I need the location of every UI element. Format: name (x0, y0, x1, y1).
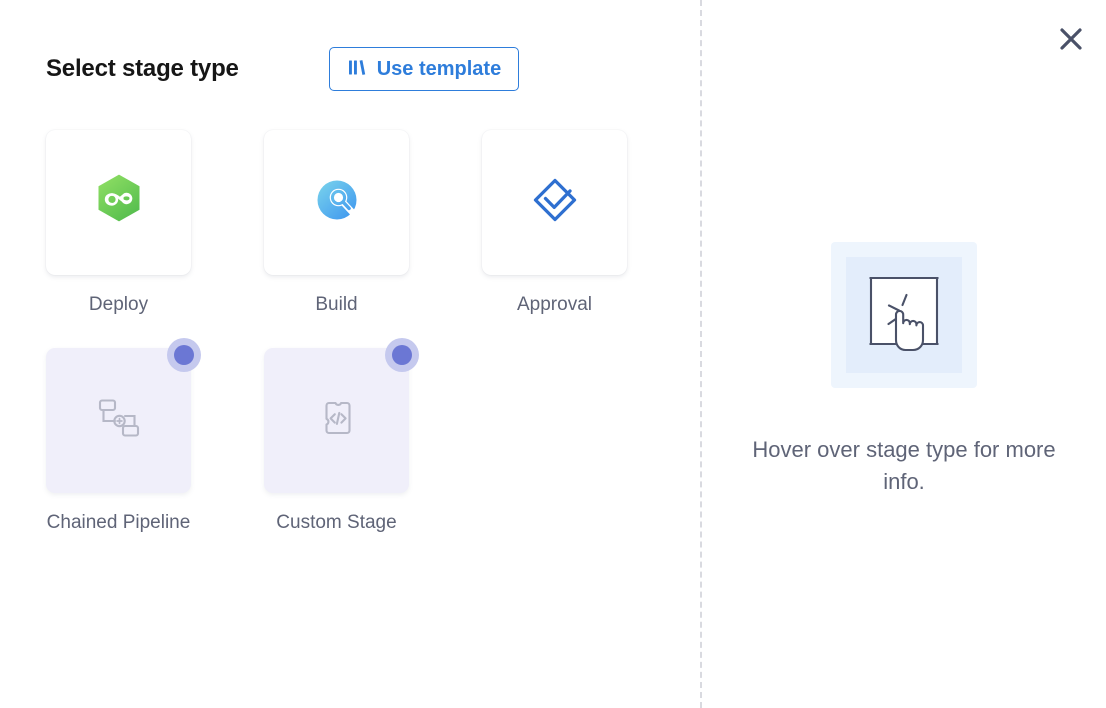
stage-type-card-build[interactable]: Build (264, 130, 409, 320)
build-tile-wrap (264, 130, 409, 275)
stage-type-grid: Deploy (46, 130, 646, 538)
deploy-hexagon-infinity-icon (94, 173, 144, 232)
stage-type-card-chained-pipeline: Chained Pipeline (46, 348, 191, 538)
select-stage-type-dialog: Select stage type Use template (0, 0, 1106, 708)
stage-type-picker: Select stage type Use template (0, 0, 700, 708)
dialog-header: Select stage type Use template (46, 46, 700, 92)
use-template-button[interactable]: Use template (329, 47, 520, 91)
chained-pipeline-nodes-icon (96, 396, 142, 445)
close-icon-glyph (1058, 26, 1084, 52)
stage-type-label: Custom Stage (276, 507, 396, 538)
custom-stage-tile (264, 348, 409, 493)
custom-stage-code-puzzle-icon (315, 396, 359, 445)
deploy-tile[interactable] (46, 130, 191, 275)
approval-tile-wrap (482, 130, 627, 275)
stage-info-panel: Hover over stage type for more info. (702, 0, 1106, 708)
stage-type-card-custom-stage: Custom Stage (264, 348, 409, 538)
illustration-backdrop-outer (831, 242, 977, 388)
build-magnifier-circle-icon (311, 174, 363, 231)
approval-tile[interactable] (482, 130, 627, 275)
deploy-tile-wrap (46, 130, 191, 275)
stage-type-label: Build (315, 289, 357, 320)
illustration-backdrop-inner (846, 257, 962, 373)
build-tile[interactable] (264, 130, 409, 275)
page-title: Select stage type (46, 55, 239, 83)
template-library-icon (347, 57, 368, 82)
status-badge (385, 338, 419, 372)
stage-type-label: Chained Pipeline (47, 507, 191, 538)
stage-type-card-approval[interactable]: Approval (482, 130, 627, 320)
stage-type-label: Approval (517, 289, 592, 320)
stage-type-label: Deploy (89, 289, 148, 320)
info-panel-message: Hover over stage type for more info. (729, 434, 1079, 498)
status-badge (167, 338, 201, 372)
close-icon[interactable] (1054, 22, 1088, 56)
custom-stage-tile-wrap (264, 348, 409, 493)
approval-diamond-check-icon (529, 174, 581, 231)
stage-type-card-deploy[interactable]: Deploy (46, 130, 191, 320)
use-template-label: Use template (377, 59, 502, 79)
hover-pointer-hand-illustration (855, 264, 953, 367)
chained-pipeline-tile (46, 348, 191, 493)
chained-pipeline-tile-wrap (46, 348, 191, 493)
